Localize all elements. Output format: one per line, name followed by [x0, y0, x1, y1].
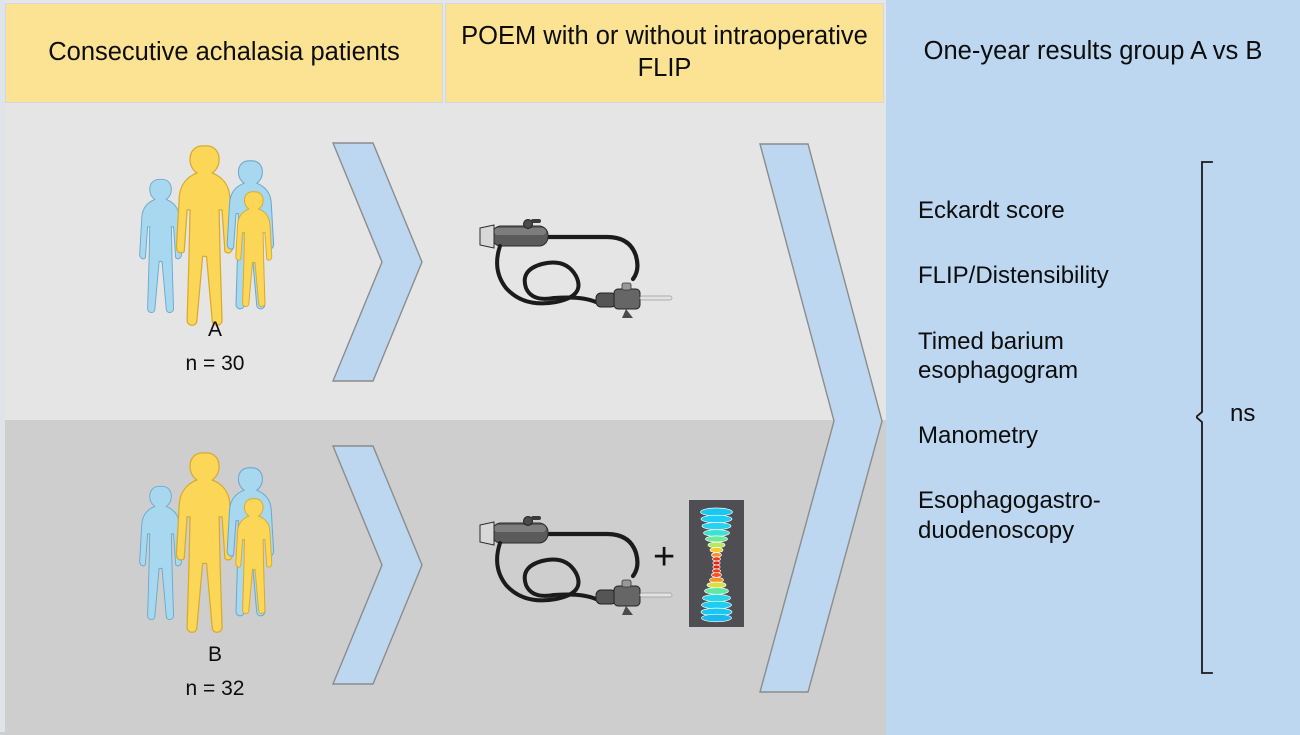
curly-brace-icon: [1196, 160, 1222, 675]
left-frame-edge: [0, 0, 5, 735]
header-column-patients: Consecutive achalasia patients: [5, 3, 443, 103]
family-silhouette-icon: [130, 447, 300, 647]
flip-topography-illustration: [689, 500, 744, 627]
plus-icon: +: [653, 538, 675, 576]
outcome-item: Esophagogastro-duodenoscopy: [918, 486, 1186, 545]
group-a-letter: A: [130, 318, 300, 342]
patient-group-a-silhouettes: [130, 140, 300, 340]
chevron-right-icon: [325, 440, 430, 690]
header-column-results-label: One-year results group A vs B: [924, 36, 1263, 68]
flip-topography-icon: [689, 500, 744, 627]
header-column-patients-label: Consecutive achalasia patients: [48, 37, 400, 69]
significance-label: ns: [1230, 400, 1255, 428]
outcome-item: Timed barium esophagogram: [918, 327, 1186, 386]
chevron-right-icon: [325, 137, 430, 387]
outcome-item: Eckardt score: [918, 196, 1186, 225]
endoscope-icon: [470, 210, 685, 330]
outcome-measures-list: Eckardt score FLIP/Distensibility Timed …: [918, 196, 1186, 545]
arrow-group-a-to-intervention: [325, 137, 430, 387]
outcome-item: Manometry: [918, 421, 1186, 450]
group-b-letter: B: [130, 643, 300, 667]
endoscope-illustration-group-a: [470, 210, 685, 330]
outcome-item: FLIP/Distensibility: [918, 261, 1186, 290]
header-column-results: One-year results group A vs B: [886, 0, 1300, 103]
arrow-to-results: [750, 138, 890, 698]
significance-brace: [1196, 160, 1222, 675]
study-flow-diagram: Consecutive achalasia patients POEM with…: [0, 0, 1300, 735]
arrow-group-b-to-intervention: [325, 440, 430, 690]
patient-group-b-silhouettes: [130, 447, 300, 647]
header-column-intervention-label: POEM with or without intraoperative FLIP: [460, 21, 869, 84]
chevron-right-icon: [750, 138, 890, 698]
group-b-count: n = 32: [130, 677, 300, 701]
family-silhouette-icon: [130, 140, 300, 340]
group-a-count: n = 30: [130, 352, 300, 376]
header-column-intervention: POEM with or without intraoperative FLIP: [445, 3, 884, 103]
